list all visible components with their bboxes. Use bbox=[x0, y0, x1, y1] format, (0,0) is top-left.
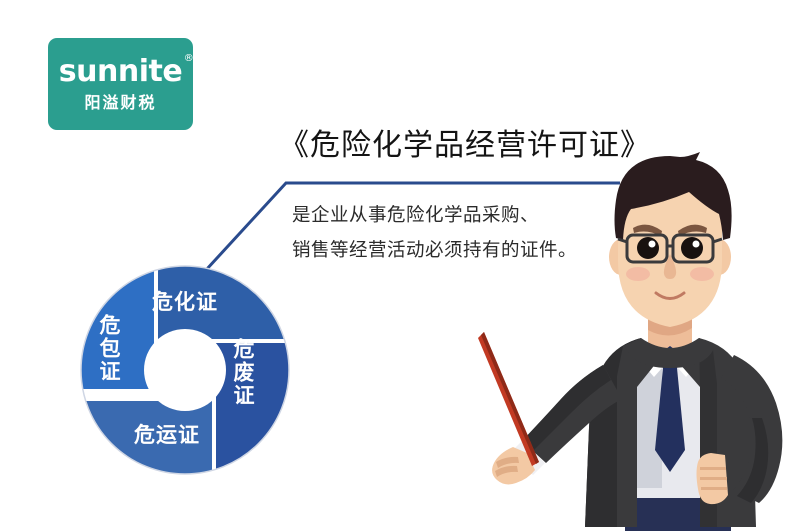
brand-logo: sunnite ® 阳溢财税 bbox=[48, 38, 193, 130]
cheek-left bbox=[626, 267, 650, 281]
segment-label-right: 危废证 bbox=[235, 338, 257, 407]
pointer-stick-shade bbox=[481, 332, 539, 464]
brand-chinese-label: 阳溢财税 bbox=[84, 96, 156, 112]
registered-trademark-icon: ® bbox=[184, 54, 194, 64]
poster-canvas: sunnite ® 阳溢财税 《危险化学品经营许可证》 是企业从事危险化学品采购… bbox=[0, 0, 800, 531]
brand-latin-label: sunnite bbox=[59, 54, 182, 89]
eye-right-highlight bbox=[693, 241, 700, 248]
segment-label-top: 危化证 bbox=[152, 286, 218, 316]
segment-label-left: 危包证 bbox=[101, 314, 123, 383]
cheek-right bbox=[690, 267, 714, 281]
eye-left bbox=[637, 237, 659, 259]
segment-label-bottom: 危运证 bbox=[134, 419, 200, 449]
eye-left-highlight bbox=[649, 241, 656, 248]
brand-latin-text: sunnite ® bbox=[59, 57, 182, 87]
businessman-illustration bbox=[470, 150, 800, 531]
eye-right bbox=[681, 237, 703, 259]
